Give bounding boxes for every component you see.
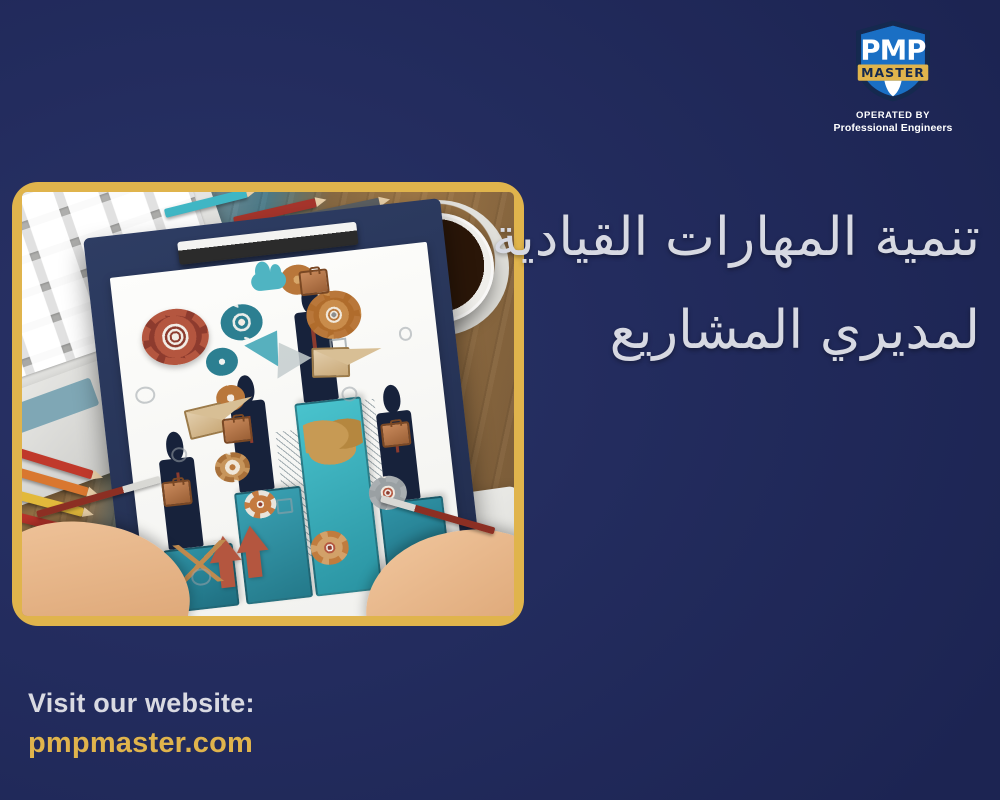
pmp-master-shield-icon: PMP MASTER bbox=[850, 18, 936, 104]
headline-line-1: تنمية المهارات القيادية bbox=[500, 206, 980, 271]
up-arrow-icon bbox=[234, 524, 269, 553]
operated-by-label: OPERATED BY bbox=[808, 110, 978, 122]
illustration-frame bbox=[12, 182, 524, 626]
illustration-photo bbox=[22, 192, 514, 616]
doodle-icon bbox=[398, 327, 412, 341]
briefcase-icon bbox=[298, 269, 329, 296]
website-url-link[interactable]: pmpmaster.com bbox=[28, 727, 255, 760]
brand-logo[interactable]: PMP MASTER OPERATED BY Professional Engi… bbox=[808, 18, 978, 134]
briefcase-icon bbox=[161, 480, 192, 507]
doodle-icon bbox=[276, 498, 294, 515]
leaf-motif-icon bbox=[302, 415, 365, 470]
gear-icon bbox=[204, 347, 239, 378]
envelope-icon bbox=[311, 347, 350, 378]
briefcase-icon bbox=[380, 421, 411, 448]
svg-text:PMP: PMP bbox=[860, 34, 926, 66]
gear-icon bbox=[139, 305, 212, 368]
footer-website-block: Visit our website: pmpmaster.com bbox=[28, 688, 255, 760]
promotional-banner: PMP MASTER OPERATED BY Professional Engi… bbox=[0, 0, 1000, 800]
headline: تنمية المهارات القيادية لمديري المشاريع bbox=[500, 206, 980, 363]
svg-text:MASTER: MASTER bbox=[861, 65, 925, 80]
headline-line-2: لمديري المشاريع bbox=[500, 299, 980, 364]
cloud-icon bbox=[250, 270, 287, 293]
operator-name: Professional Engineers bbox=[808, 122, 978, 135]
briefcase-icon bbox=[222, 417, 253, 444]
doodle-icon bbox=[134, 386, 155, 405]
visit-label: Visit our website: bbox=[28, 688, 255, 719]
logo-subtitle: OPERATED BY Professional Engineers bbox=[808, 110, 978, 134]
envelope-icon bbox=[184, 403, 228, 441]
